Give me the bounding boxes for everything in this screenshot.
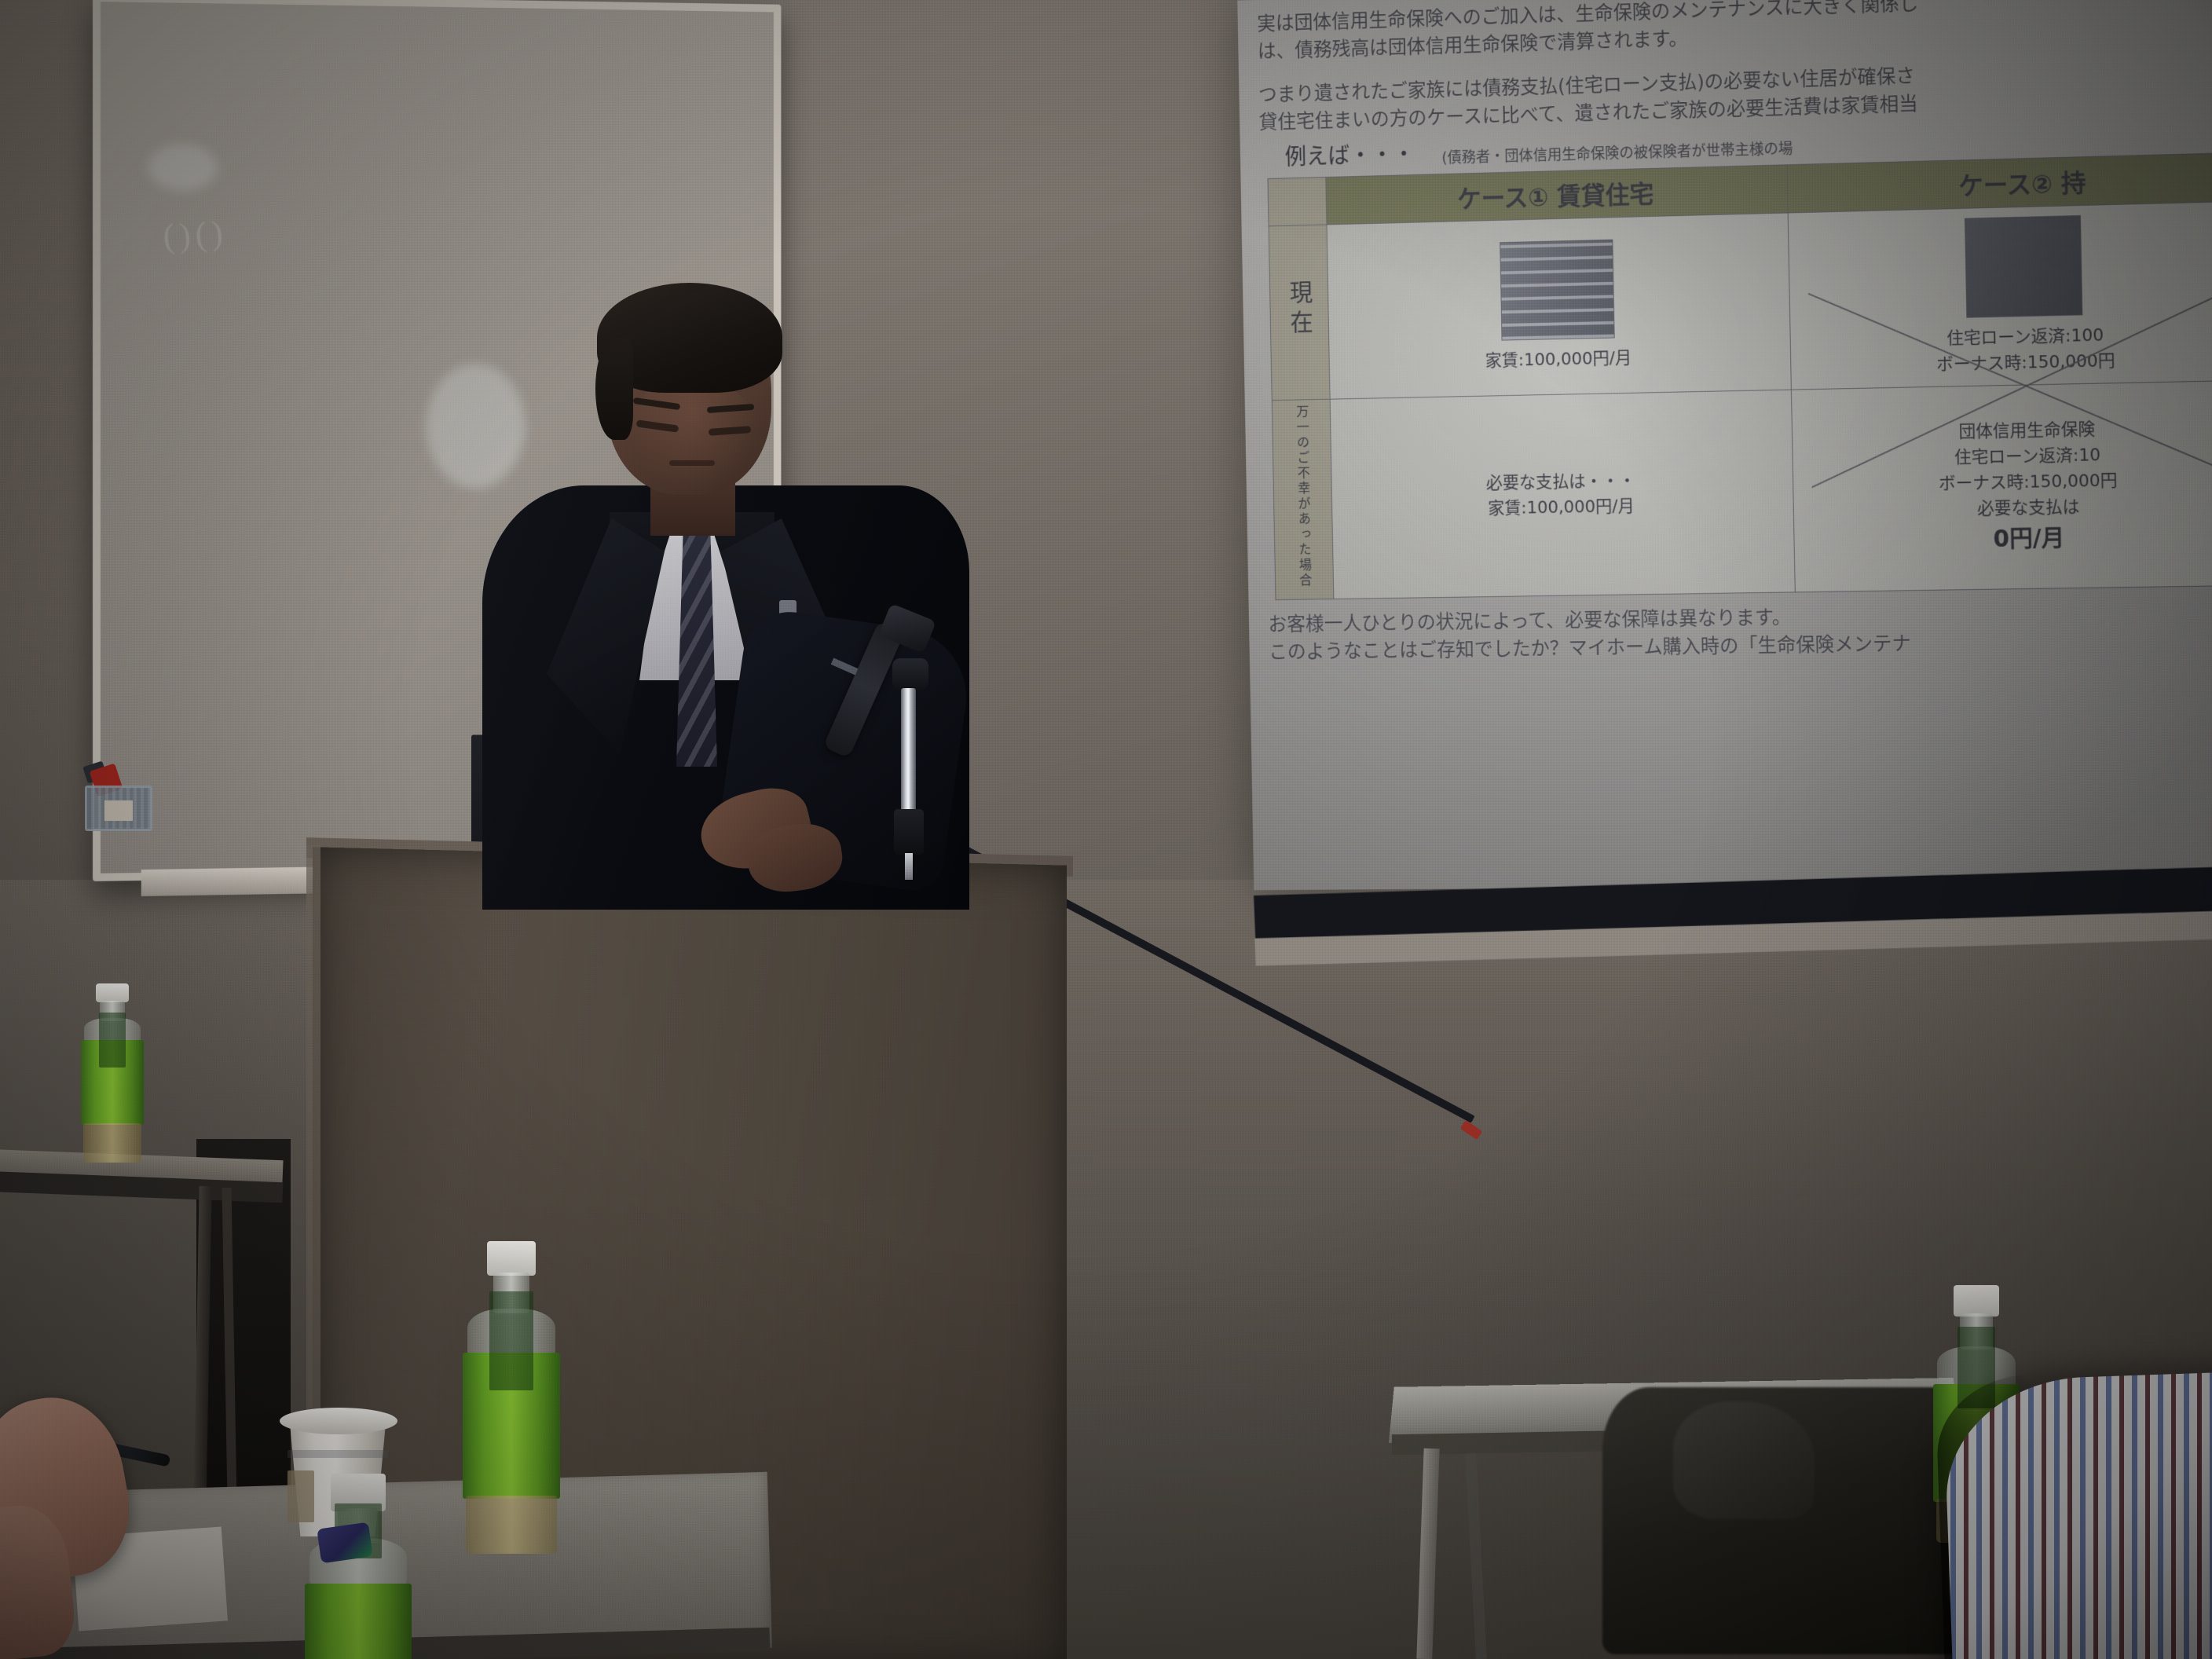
table-cell-present-case2: 住宅ローン返済:100 ボーナス時:150,000円 [1788,201,2212,390]
table-cell-present-case1: 家賃:100,000円/月 [1327,213,1791,399]
house-photo-icon [1965,214,2082,317]
projection-screen: 実は団体信用生命保険へのご加入は、生命保険のメンテナンスに大きく関係し は、債務… [1237,0,2212,890]
cell-line: 家賃:100,000円/月 [1334,342,1785,378]
basket-label [104,800,133,821]
slide-example-label: 例えば・・・ [1284,136,1415,171]
table-stub-header [1268,178,1327,226]
table-cell-emergency-case1: 必要な支払は・・・ 家賃:100,000円/月 [1330,390,1795,599]
comparison-table: ケース① 賃貸住宅 ケース② 持 現在 家賃:100,000円/月 住宅ローン返… [1267,152,2212,600]
paper-cup-band [287,1450,388,1458]
cell-total-zero: 0円/月 [1799,517,2212,559]
whiteboard-eraser[interactable] [317,1522,372,1564]
microphone-joint[interactable] [892,658,928,690]
table-row: 万一のご不幸があった場合 必要な支払は・・・ 家賃:100,000円/月 団体信… [1272,380,2212,600]
whiteboard-ghost-writing: ()() [162,213,229,257]
bag-fold [1673,1401,1815,1519]
green-tea-bottle-front-tall[interactable] [460,1241,562,1555]
slide-example-note: (債務者・団体信用生命保険の被保険者が世帯主様の場 [1441,137,1793,168]
marker-basket [85,786,152,831]
table-row: 現在 家賃:100,000円/月 住宅ローン返済:100 ボーナス時:150,0… [1269,201,2212,401]
mouth [669,460,715,466]
apartment-building-photo-icon [1500,240,1615,341]
whiteboard-smudge [148,144,218,192]
table-row-label-emergency: 万一のご不幸があった場合 [1272,399,1334,599]
seminar-room-photo: ()() 実は団体信用生命保険へのご加入は、生命保険のメンテナンスに大きく関係し… [0,0,2212,1659]
microphone-base-clamp[interactable] [894,809,924,855]
paper-cup-rim [280,1408,397,1434]
green-tea-bottle-left-shelf[interactable] [79,983,146,1164]
presenter-hair-side [595,338,633,440]
green-tea-bottle-front-near[interactable] [303,1474,413,1659]
table-row-label-present: 現在 [1269,225,1330,401]
microphone-stand-tip [905,853,913,880]
face-shading [625,377,759,495]
table-cell-emergency-case2: 団体信用生命保険 住宅ローン返済:10 ボーナス時:150,000円 必要な支払… [1791,380,2212,592]
slide-content: 実は団体信用生命保険へのご加入は、生命保険のメンテナンスに大きく関係し は、債務… [1237,0,2212,890]
